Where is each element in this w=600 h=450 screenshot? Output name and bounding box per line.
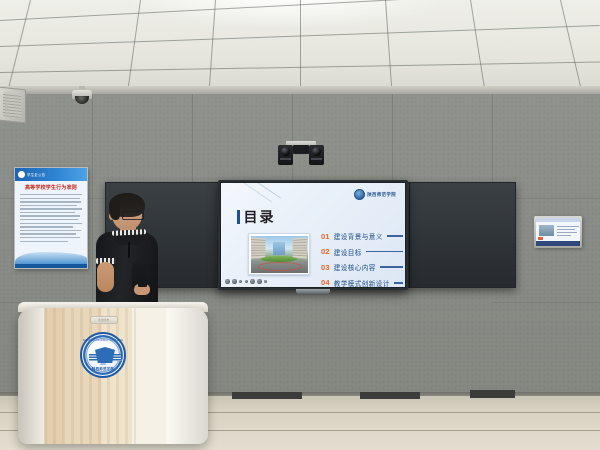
university-emblem: SHAANXI NORMAL COLLEGE 1902 陕西师范学院 bbox=[80, 332, 126, 378]
toc-number: 02 bbox=[321, 247, 330, 256]
wall-speaker bbox=[0, 87, 26, 124]
toc-label: 教学模式创新设计 bbox=[334, 278, 390, 287]
toc-number: 01 bbox=[321, 232, 330, 241]
title-accent-bar bbox=[237, 210, 240, 224]
podium-right-shade bbox=[168, 308, 208, 444]
tracking-camera-right-icon bbox=[309, 145, 324, 165]
lecture-hall-photo: 学生处公告 高等学校学生行为准则 bbox=[0, 0, 600, 450]
toc-number: 04 bbox=[321, 278, 330, 287]
poster-title: 高等学校学生行为准则 bbox=[15, 184, 87, 191]
toc-number: 03 bbox=[321, 263, 330, 272]
speaker-grill bbox=[3, 92, 21, 118]
presenter-arm-left bbox=[97, 262, 114, 292]
emblem-shield-icon bbox=[95, 347, 115, 363]
poster-footer-bar bbox=[15, 264, 87, 268]
more-tool-icon[interactable] bbox=[257, 279, 262, 284]
table-of-contents: 01 建设背景与意义 02 建设目标 03 建设核心内容 04 教学模式创新设计 bbox=[321, 231, 403, 287]
toc-rule bbox=[387, 235, 403, 237]
toc-item[interactable]: 03 建设核心内容 bbox=[321, 262, 403, 272]
eyeglasses-icon bbox=[122, 211, 144, 220]
toc-item[interactable]: 02 建设目标 bbox=[321, 247, 403, 257]
display-stand bbox=[296, 289, 330, 294]
slide-campus-photo bbox=[248, 233, 310, 275]
presenter bbox=[92, 196, 164, 312]
slide-title: 目录 bbox=[237, 207, 276, 227]
floor-dark-tile bbox=[232, 392, 302, 399]
tracking-camera-left-icon bbox=[278, 145, 293, 165]
presentation-remote bbox=[138, 282, 147, 287]
presenter-placket bbox=[128, 242, 130, 258]
select-tool-icon[interactable] bbox=[245, 280, 248, 283]
floor-dark-tile bbox=[360, 392, 420, 399]
title-text: 目录 bbox=[244, 207, 276, 227]
pen-tool-icon[interactable] bbox=[225, 279, 230, 284]
poster-tag: 学生处公告 bbox=[27, 172, 45, 177]
eraser-tool-icon[interactable] bbox=[232, 279, 237, 284]
slide-institution-logo: 陕西师范学院 bbox=[354, 189, 396, 200]
shape-tool-icon[interactable] bbox=[250, 279, 255, 284]
wall-control-panel[interactable] bbox=[534, 216, 582, 248]
poster-body bbox=[20, 194, 82, 244]
slide-toolbar[interactable] bbox=[225, 279, 267, 284]
podium-left-shade bbox=[18, 308, 44, 444]
lectern-podium[interactable]: 智慧讲台 SHAANXI NORMAL COLLEGE 1902 陕西师范学院 bbox=[18, 302, 208, 448]
institution-name: 陕西师范学院 bbox=[367, 192, 396, 198]
toc-rule bbox=[380, 266, 403, 268]
toc-label: 建设目标 bbox=[334, 247, 362, 257]
presenter-hair-side bbox=[109, 200, 120, 220]
dot-tool-icon[interactable] bbox=[264, 280, 267, 283]
interactive-display[interactable]: 陕西师范学院 目录 01 建设背景与意义 bbox=[218, 180, 408, 290]
emblem-top-text: SHAANXI NORMAL COLLEGE bbox=[82, 339, 124, 342]
ceiling bbox=[0, 0, 600, 100]
poster-header-bar bbox=[15, 168, 87, 181]
marker-tool-icon[interactable] bbox=[239, 280, 242, 283]
toc-item[interactable]: 04 教学模式创新设计 bbox=[321, 278, 403, 287]
emblem-name: 陕西师范学院 bbox=[82, 366, 124, 371]
wall-poster: 学生处公告 高等学校学生行为准则 bbox=[14, 167, 88, 269]
institution-seal-icon bbox=[354, 189, 365, 200]
podium-plate-text: 智慧讲台 bbox=[91, 318, 117, 322]
toc-label: 建设背景与意义 bbox=[334, 231, 383, 241]
wall-panel-screen[interactable] bbox=[536, 218, 580, 246]
presentation-slide[interactable]: 陕西师范学院 目录 01 建设背景与意义 bbox=[221, 183, 405, 287]
toc-item[interactable]: 01 建设背景与意义 bbox=[321, 231, 403, 241]
stage-camera-rig bbox=[276, 141, 326, 167]
dome-security-camera-icon bbox=[72, 86, 92, 104]
toc-rule bbox=[394, 282, 403, 284]
podium-name-plate: 智慧讲台 bbox=[90, 316, 118, 324]
toc-label: 建设核心内容 bbox=[334, 262, 376, 272]
toc-rule bbox=[366, 251, 403, 253]
poster-logo-icon bbox=[18, 171, 25, 178]
floor-dark-tile bbox=[470, 390, 515, 398]
podium-wood-grain bbox=[44, 308, 136, 444]
